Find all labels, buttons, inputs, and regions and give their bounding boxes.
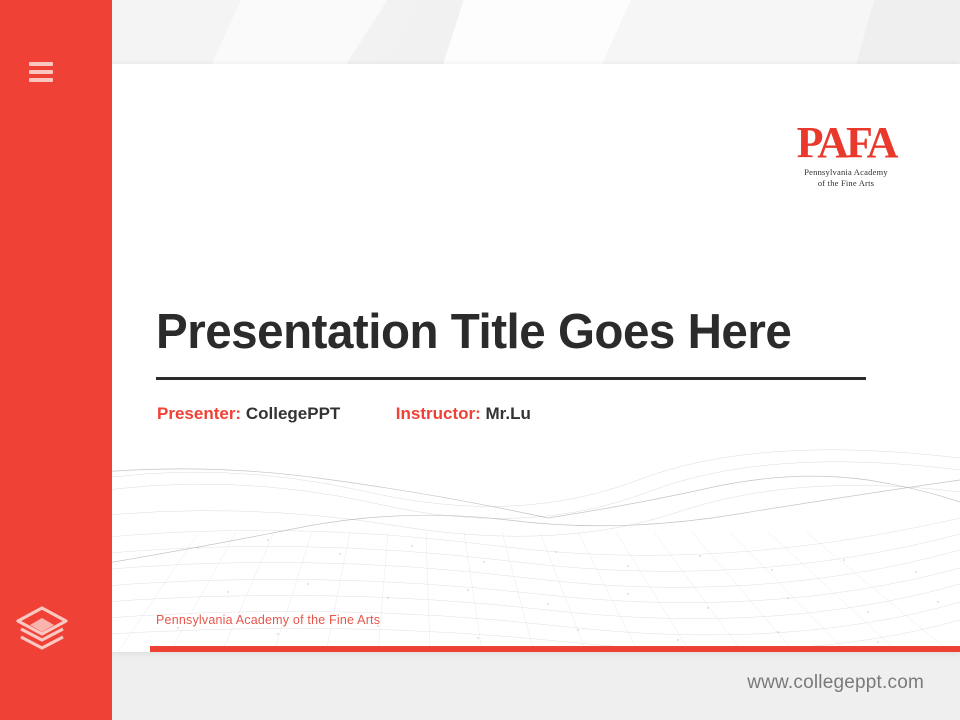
slide-card: PAFA Pennsylvania Academy of the Fine Ar… xyxy=(78,64,960,652)
hamburger-menu-icon[interactable] xyxy=(29,62,53,82)
pafa-subtitle-line-2: of the Fine Arts xyxy=(766,178,926,189)
card-footer-text: Pennsylvania Academy of the Fine Arts xyxy=(156,613,380,627)
page-title: Presentation Title Goes Here xyxy=(156,304,851,360)
title-underline-rule xyxy=(156,377,866,380)
instructor-label: Instructor: xyxy=(396,404,481,423)
pafa-wordmark: PAFA xyxy=(766,122,926,164)
instructor-value: Mr.Lu xyxy=(486,404,531,423)
presenter-label: Presenter: xyxy=(157,404,241,423)
site-url[interactable]: www.collegeppt.com xyxy=(747,672,924,694)
card-bottom-red-bar xyxy=(150,646,960,652)
presenter-value: CollegePPT xyxy=(246,404,340,423)
left-red-rail xyxy=(0,0,112,720)
slide-canvas: PAFA Pennsylvania Academy of the Fine Ar… xyxy=(0,0,960,720)
pafa-subtitle-line-1: Pennsylvania Academy xyxy=(766,167,926,178)
menu-bar-3 xyxy=(29,78,53,82)
layers-stack-glyph xyxy=(14,604,70,654)
menu-bar-2 xyxy=(29,70,53,74)
credits-row: Presenter: CollegePPT Instructor: Mr.Lu xyxy=(157,404,531,424)
pafa-logo: PAFA Pennsylvania Academy of the Fine Ar… xyxy=(766,122,926,190)
layers-stack-icon[interactable] xyxy=(14,604,70,654)
menu-bar-1 xyxy=(29,62,53,66)
